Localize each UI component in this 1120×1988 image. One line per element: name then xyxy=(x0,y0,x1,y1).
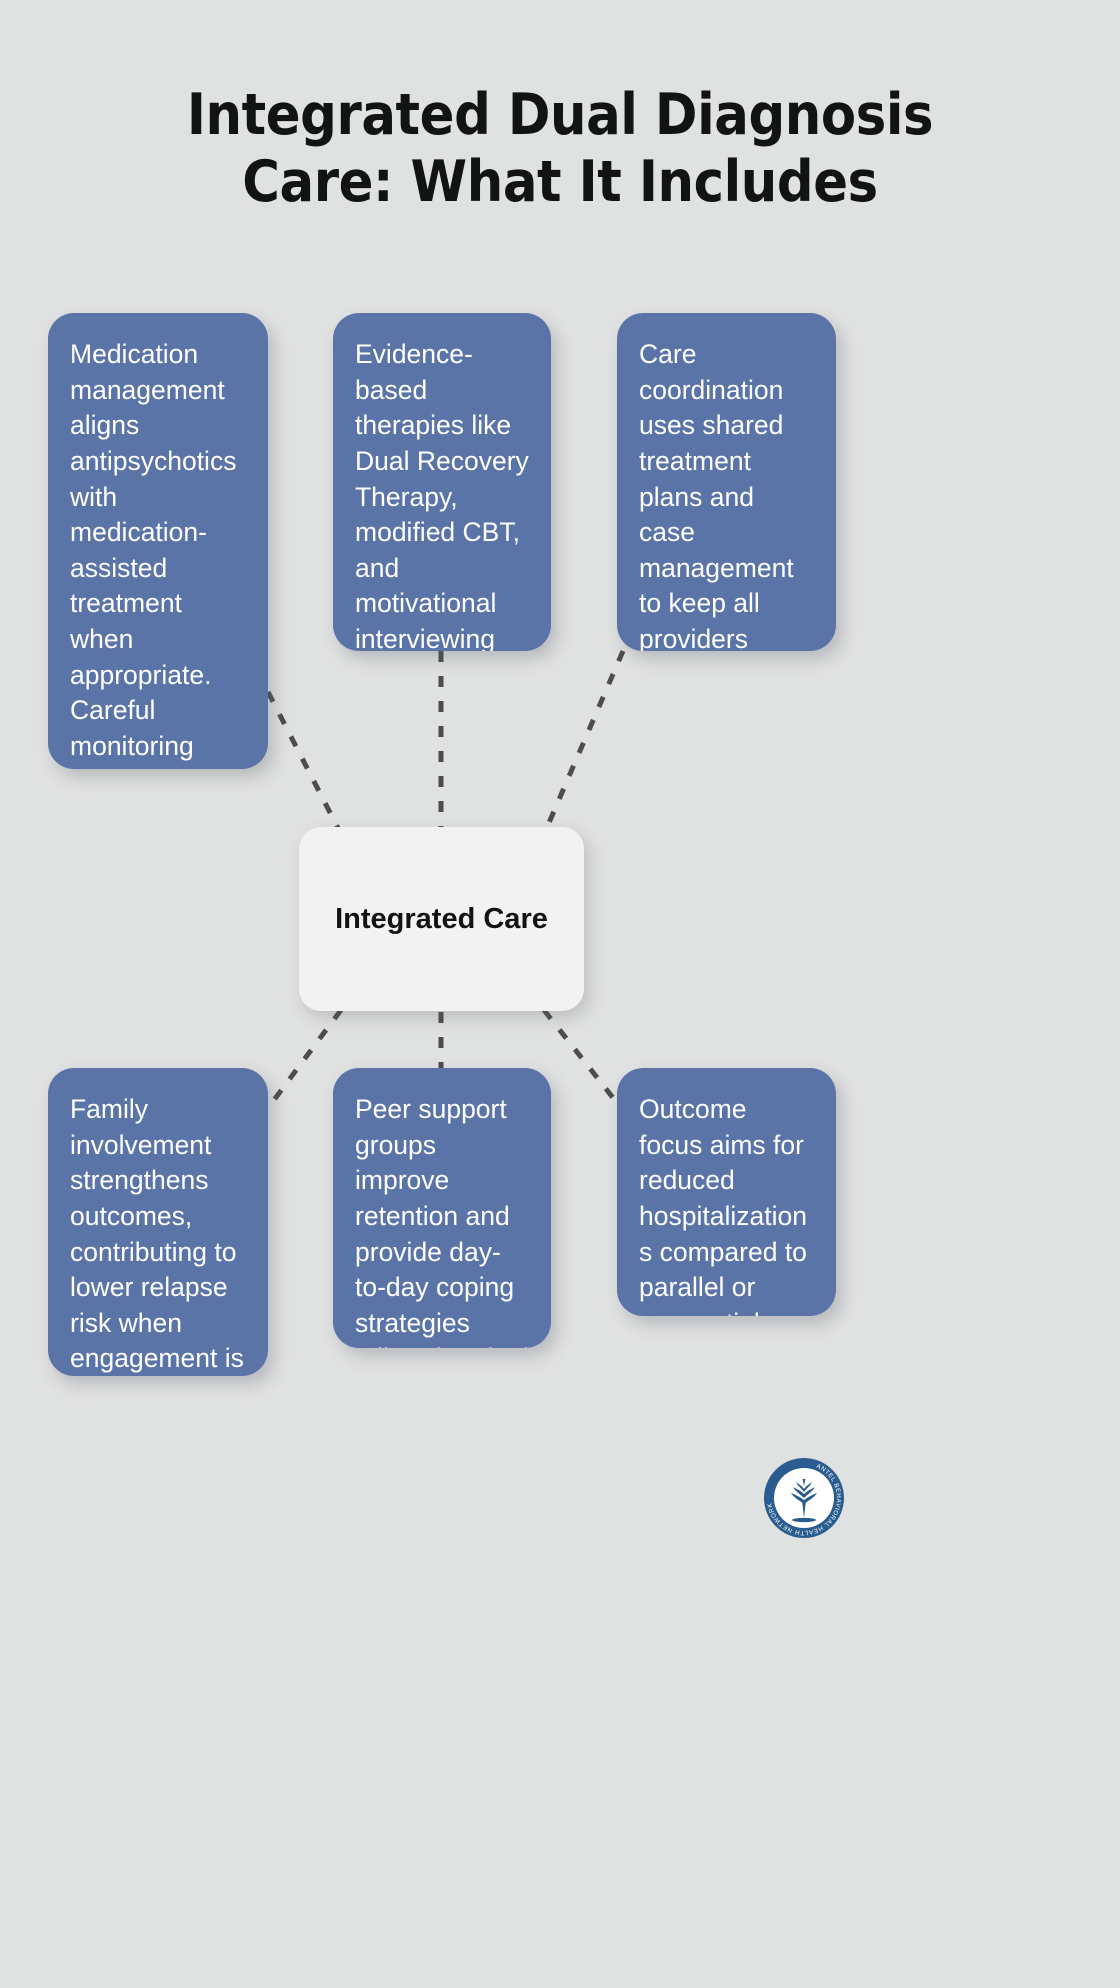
card-text: Family involvement strengthens outcomes,… xyxy=(70,1094,244,1376)
page-title-line-2: Care: What It Includes xyxy=(0,149,1120,216)
connector-top-left xyxy=(268,692,340,832)
card-care-coordination[interactable]: Care coordination uses shared treatment … xyxy=(617,313,836,651)
card-text: Evidence-based therapies like Dual Recov… xyxy=(355,339,529,651)
page-title: Integrated Dual Diagnosis Care: What It … xyxy=(0,82,1120,217)
infographic-canvas: Integrated Dual Diagnosis Care: What It … xyxy=(0,0,1120,1988)
center-node-integrated-care[interactable]: Integrated Care xyxy=(299,827,584,1011)
connector-bottom-right xyxy=(544,1010,621,1108)
connector-top-right xyxy=(545,651,623,832)
card-text: Outcome focus aims for reduced hospitali… xyxy=(639,1094,807,1316)
card-outcome-focus[interactable]: Outcome focus aims for reduced hospitali… xyxy=(617,1068,836,1316)
card-evidence-based-therapies[interactable]: Evidence-based therapies like Dual Recov… xyxy=(333,313,551,651)
card-medication-management[interactable]: Medication management aligns antipsychot… xyxy=(48,313,268,769)
card-peer-support[interactable]: Peer support groups improve retention an… xyxy=(333,1068,551,1348)
card-text: Peer support groups improve retention an… xyxy=(355,1094,529,1348)
center-node-label: Integrated Care xyxy=(335,903,548,936)
card-family-involvement[interactable]: Family involvement strengthens outcomes,… xyxy=(48,1068,268,1376)
card-text: Care coordination uses shared treatment … xyxy=(639,339,813,651)
connector-bottom-left xyxy=(268,1010,341,1108)
brand-logo: ANTEL BEHAVIORAL HEALTH NETWORK xyxy=(758,1452,850,1544)
page-title-line-1: Integrated Dual Diagnosis xyxy=(0,82,1120,149)
logo-tree-badge-icon: ANTEL BEHAVIORAL HEALTH NETWORK xyxy=(758,1452,850,1544)
card-text: Medication management aligns antipsychot… xyxy=(70,339,236,769)
